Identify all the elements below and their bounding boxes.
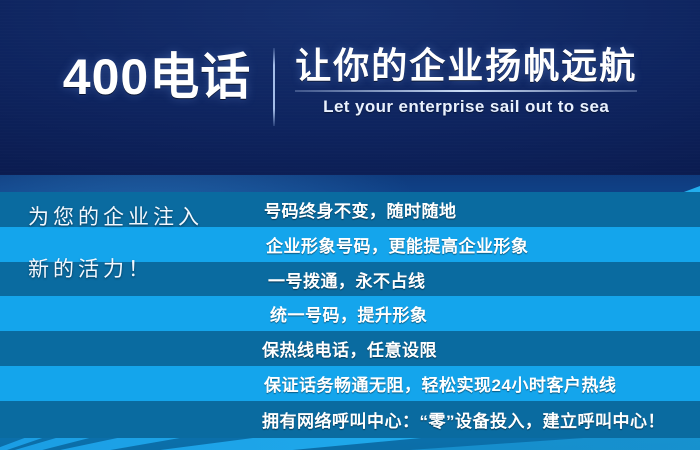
feature-text: 拥有网络呼叫中心：“零”设备投入，建立呼叫中心！ bbox=[262, 407, 665, 432]
header-banner: 400电话 让你的企业扬帆远航 Let your enterprise sail… bbox=[0, 0, 700, 175]
feature-text: 统一号码，提升形象 bbox=[270, 301, 428, 326]
slogan-underline bbox=[295, 90, 637, 92]
feature-text: 一号拨通，永不占线 bbox=[268, 267, 426, 292]
slogan-block: 让你的企业扬帆远航 Let your enterprise sail out t… bbox=[295, 46, 637, 116]
vertical-divider-icon bbox=[273, 48, 275, 126]
feature-text: 号码终身不变，随时随地 bbox=[264, 197, 457, 222]
feature-text: 企业形象号码，更能提高企业形象 bbox=[266, 232, 529, 257]
list-item[interactable]: 保证话务畅通无阻，轻松实现24小时客户热线 bbox=[0, 366, 700, 401]
feature-text: 保热线电话，任意设限 bbox=[262, 336, 437, 361]
lead-line-1: 为您的企业注入 bbox=[28, 192, 258, 244]
lead-headline: 为您的企业注入 新的活力！ bbox=[28, 192, 258, 296]
header-content: 400电话 让你的企业扬帆远航 Let your enterprise sail… bbox=[0, 46, 700, 136]
lead-line-2: 新的活力！ bbox=[28, 244, 258, 296]
feature-text: 保证话务畅通无阻，轻松实现24小时客户热线 bbox=[264, 371, 616, 396]
list-item[interactable]: 拥有网络呼叫中心：“零”设备投入，建立呼叫中心！ bbox=[0, 401, 700, 438]
slogan-english: Let your enterprise sail out to sea bbox=[323, 97, 609, 116]
slogan-chinese: 让你的企业扬帆远航 bbox=[295, 46, 637, 86]
brand-title: 400电话 bbox=[63, 50, 251, 104]
list-item[interactable]: 保热线电话，任意设限 bbox=[0, 331, 700, 366]
banner-image: 号码终身不变，随时随地 企业形象号码，更能提高企业形象 一号拨通，永不占线 统一… bbox=[0, 0, 700, 450]
list-item[interactable]: 统一号码，提升形象 bbox=[0, 296, 700, 331]
